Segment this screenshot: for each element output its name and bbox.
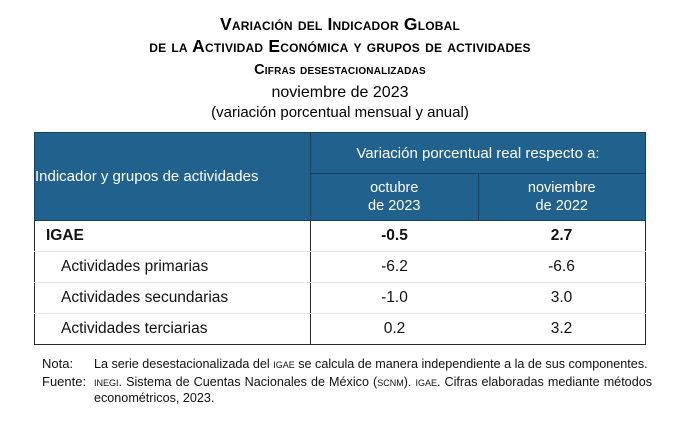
footnote-fuente-acronym-inegi: INEGI <box>94 375 119 389</box>
row-label: Actividades terciarias <box>35 320 310 338</box>
table-row: Actividades secundarias -1.0 3.0 <box>35 283 646 314</box>
column-header-annual: noviembre de 2022 <box>478 174 646 221</box>
table-header-row-top: Indicador y grupos de actividades Variac… <box>35 133 646 174</box>
row-label-cell: Actividades terciarias <box>35 314 311 345</box>
data-table: Indicador y grupos de actividades Variac… <box>34 132 646 345</box>
footnote-fuente-text: INEGI. Sistema de Cuentas Nacionales de … <box>94 374 652 407</box>
footnote-fuente-text-a: . Sistema de Cuentas Nacionales de Méxic… <box>119 375 378 389</box>
row-label: Actividades primarias <box>35 258 310 276</box>
row-value-monthly-text: -6.2 <box>381 258 408 275</box>
footnote-fuente-acronym-scnm: SCNM <box>377 375 404 389</box>
footnote-nota-key: Nota: <box>42 356 94 373</box>
footnote-nota-text: La serie desestacionalizada del IGAE se … <box>94 356 652 373</box>
row-value-annual-text: 3.2 <box>551 320 573 337</box>
page-title-line-2: de la Actividad Económica y grupos de ac… <box>0 35 680 58</box>
page-subtitle-parenthetical: (variación porcentual mensual y anual) <box>0 103 680 123</box>
row-value-annual-text: 3.0 <box>551 289 573 306</box>
footnote-fuente: Fuente: INEGI. Sistema de Cuentas Nacion… <box>42 374 652 407</box>
row-label-cell: IGAE <box>35 221 311 252</box>
table-header: Indicador y grupos de actividades Variac… <box>35 133 646 221</box>
row-value-annual: 2.7 <box>478 221 646 252</box>
row-value-monthly-text: 0.2 <box>384 320 406 337</box>
footnote-fuente-key: Fuente: <box>42 374 94 391</box>
row-value-monthly-text: -1.0 <box>381 289 408 306</box>
table-row: IGAE -0.5 2.7 <box>35 221 646 252</box>
row-value-monthly: -0.5 <box>311 221 479 252</box>
footnote-fuente-text-b: ). <box>404 375 416 389</box>
row-value-annual: 3.0 <box>478 283 646 314</box>
footnote-nota: Nota: La serie desestacionalizada del IG… <box>42 356 652 373</box>
column-header-monthly-line1: octubre <box>370 180 418 196</box>
row-label-cell: Actividades primarias <box>35 252 311 283</box>
footnote-fuente-acronym-igae: IGAE <box>415 375 437 389</box>
row-label: Actividades secundarias <box>35 289 310 307</box>
row-value-annual: -6.6 <box>478 252 646 283</box>
row-value-annual: 3.2 <box>478 314 646 345</box>
table-body: IGAE -0.5 2.7 Actividades primarias -6.2… <box>35 221 646 345</box>
row-label: IGAE <box>35 227 310 245</box>
column-header-annual-line1: noviembre <box>528 180 596 196</box>
footnotes: Nota: La serie desestacionalizada del IG… <box>42 356 652 407</box>
row-value-monthly: -1.0 <box>311 283 479 314</box>
row-value-annual-text: -6.6 <box>548 258 575 275</box>
column-header-monthly: octubre de 2023 <box>311 174 479 221</box>
row-value-annual-text: 2.7 <box>551 227 573 244</box>
footnote-nota-text-a: La serie desestacionalizada del <box>94 357 273 371</box>
row-value-monthly-text: -0.5 <box>381 227 408 244</box>
column-header-group: Variación porcentual real respecto a: <box>311 133 646 174</box>
page-title-line-1: Variación del Indicador Global <box>0 13 680 35</box>
footnote-nota-acronym: IGAE <box>273 357 295 371</box>
footnote-nota-text-b: se calcula de manera independiente a la … <box>295 357 648 371</box>
column-header-indicator: Indicador y grupos de actividades <box>35 133 311 221</box>
page-subtitle-caps: Cifras desestacionalizadas <box>0 60 680 81</box>
row-value-monthly: -6.2 <box>311 252 479 283</box>
row-label-cell: Actividades secundarias <box>35 283 311 314</box>
title-block: Variación del Indicador Global de la Act… <box>0 0 680 123</box>
table-row: Actividades primarias -6.2 -6.6 <box>35 252 646 283</box>
column-header-monthly-line2: de 2023 <box>368 198 420 214</box>
row-value-monthly: 0.2 <box>311 314 479 345</box>
table-row: Actividades terciarias 0.2 3.2 <box>35 314 646 345</box>
page-subtitle-period: noviembre de 2023 <box>0 82 680 103</box>
data-table-container: Indicador y grupos de actividades Variac… <box>34 132 646 345</box>
column-header-annual-line2: de 2022 <box>536 198 588 214</box>
